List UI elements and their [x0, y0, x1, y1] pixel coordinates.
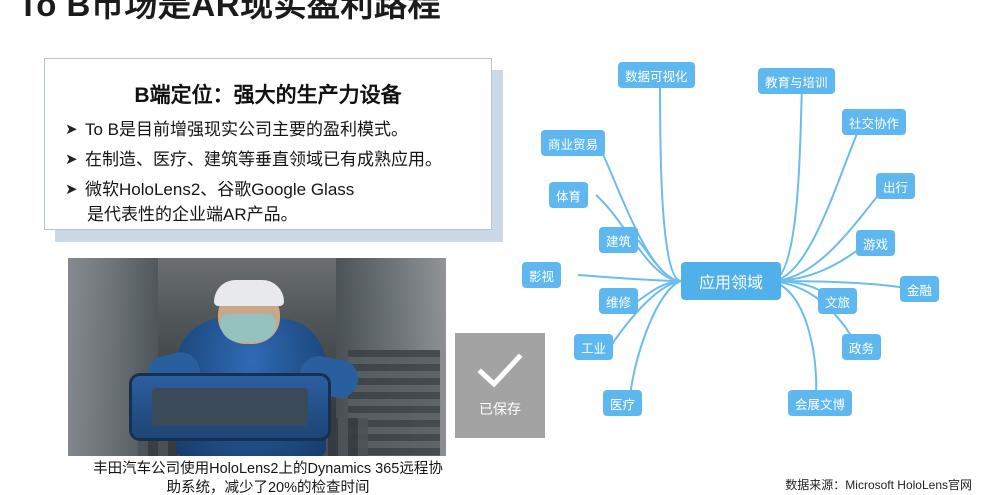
- callout-heading: B端定位：强大的生产力设备: [45, 79, 491, 109]
- callout-box: B端定位：强大的生产力设备 ➤ To B是目前增强现实公司主要的盈利模式。 ➤ …: [44, 58, 492, 230]
- list-item-label-line2: 是代表性的企业端AR产品。: [87, 202, 354, 227]
- bullet-arrow-icon: ➤: [65, 117, 85, 142]
- photo-worker-mask: [220, 314, 276, 342]
- list-item-label: To B是目前增强现实公司主要的盈利模式。: [85, 117, 408, 142]
- photo-factory-worker: [68, 258, 446, 456]
- mindmap-node-shangyemaoyi[interactable]: 商业贸易: [541, 130, 605, 156]
- photo-blue-device: [132, 376, 328, 438]
- slide: To B市场是AR现实盈利路程 B端定位：强大的生产力设备 ➤ To B是目前增…: [0, 0, 988, 495]
- list-item-label-line1: 微软HoloLens2、谷歌Google Glass: [85, 180, 354, 199]
- list-item: ➤ 微软HoloLens2、谷歌Google Glass 是代表性的企业端AR产…: [65, 177, 485, 227]
- mindmap-node-shujukeshihua[interactable]: 数据可视化: [618, 62, 695, 88]
- mindmap-node-jinrong[interactable]: 金融: [900, 276, 939, 302]
- mindmap-node-yiliao[interactable]: 医疗: [603, 390, 642, 416]
- mindmap-node-shejiaoxiezuo[interactable]: 社交协作: [842, 109, 906, 135]
- mindmap-node-weixiu[interactable]: 维修: [599, 288, 638, 314]
- list-item: ➤ To B是目前增强现实公司主要的盈利模式。: [65, 117, 485, 142]
- mindmap-center-node[interactable]: 应用领域: [681, 262, 781, 300]
- mindmap-node-chuxing[interactable]: 出行: [876, 173, 915, 199]
- photo-caption-line1: 丰田汽车公司使用HoloLens2上的Dynamics 365远程协: [93, 461, 443, 477]
- photo-caption-line2: 助系统，减少了20%的检查时间: [166, 480, 369, 495]
- mindmap-node-wenlv[interactable]: 文旅: [818, 288, 857, 314]
- source-note: 数据来源：Microsoft HoloLens官网: [785, 476, 972, 493]
- mindmap-node-zhengwu[interactable]: 政务: [842, 334, 881, 360]
- bullet-arrow-icon: ➤: [65, 177, 85, 202]
- mindmap-links: [510, 40, 988, 470]
- mindmap-node-tiyu[interactable]: 体育: [549, 182, 588, 208]
- page-title: To B市场是AR现实盈利路程: [18, 0, 441, 26]
- list-item-label: 在制造、医疗、建筑等垂直领域已有成熟应用。: [85, 147, 442, 172]
- mindmap-node-youxi[interactable]: 游戏: [856, 230, 895, 256]
- mindmap: 应用领域 数据可视化 教育与培训 社交协作 商业贸易 出行 体育 建筑 游戏 影…: [510, 40, 988, 470]
- mindmap-node-yingshi[interactable]: 影视: [522, 262, 561, 288]
- photo-caption: 丰田汽车公司使用HoloLens2上的Dynamics 365远程协 助系统，减…: [68, 460, 468, 495]
- bullet-arrow-icon: ➤: [65, 147, 85, 172]
- mindmap-node-jiaoyuyupeixun[interactable]: 教育与培训: [758, 68, 835, 94]
- mindmap-node-gongye[interactable]: 工业: [574, 334, 613, 360]
- bullet-list: ➤ To B是目前增强现实公司主要的盈利模式。 ➤ 在制造、医疗、建筑等垂直领域…: [65, 117, 485, 232]
- photo-device-inner: [152, 388, 308, 426]
- photo-worker-cap: [214, 280, 284, 306]
- mindmap-node-huizhanwenbo[interactable]: 会展文博: [788, 390, 852, 416]
- mindmap-node-jianzhu[interactable]: 建筑: [599, 227, 638, 253]
- list-item: ➤ 在制造、医疗、建筑等垂直领域已有成熟应用。: [65, 147, 485, 172]
- list-item-label: 微软HoloLens2、谷歌Google Glass 是代表性的企业端AR产品。: [85, 177, 354, 227]
